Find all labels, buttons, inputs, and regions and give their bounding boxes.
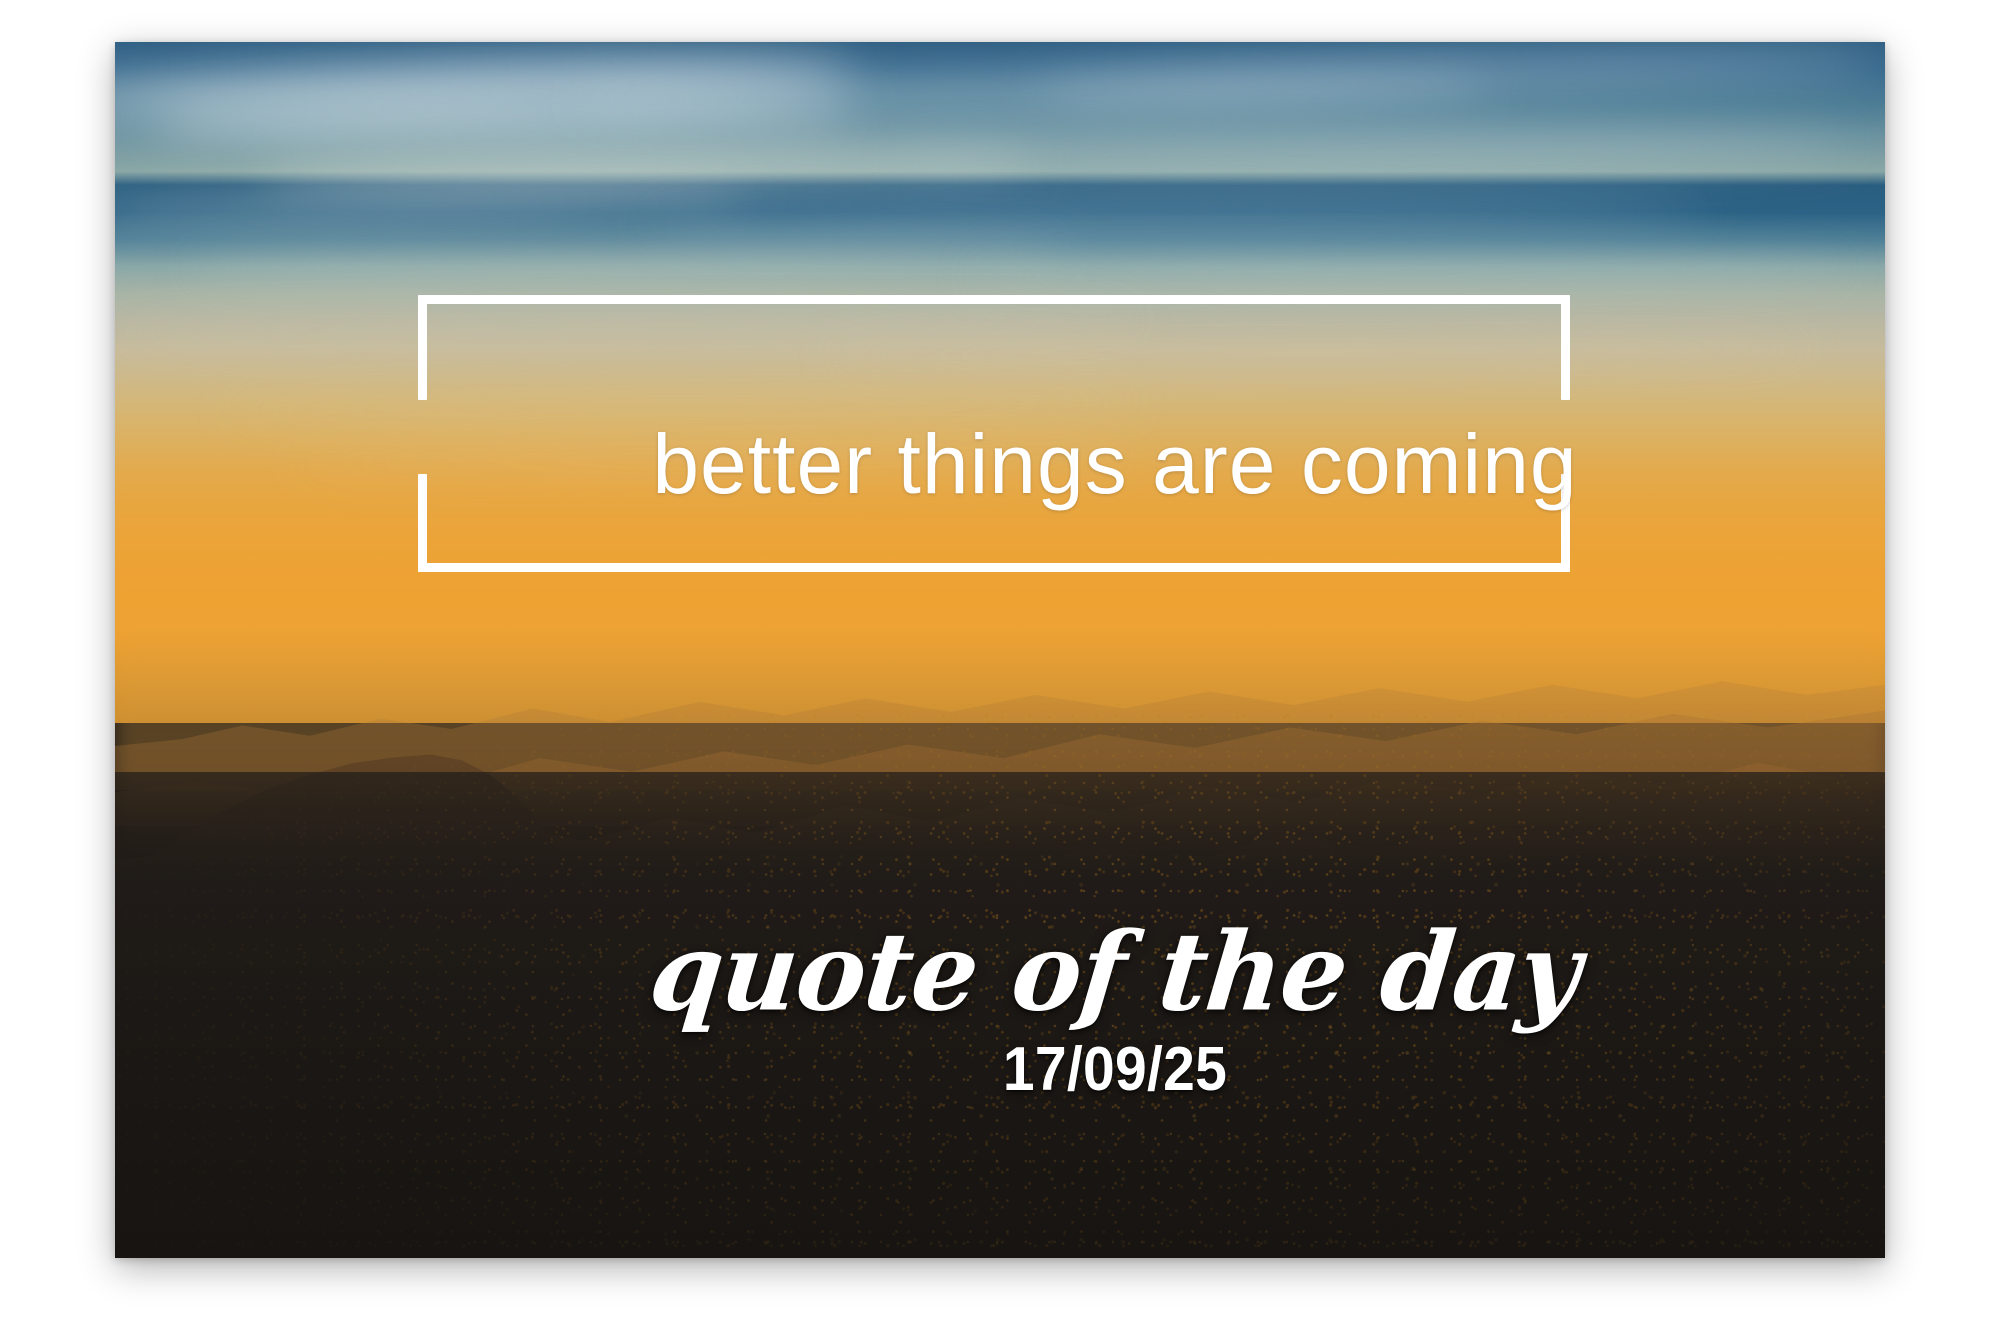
cloud-band-icon	[575, 68, 1496, 118]
cloud-band-icon	[823, 337, 1814, 366]
cloud-band-icon	[115, 47, 859, 126]
cloud-band-icon	[964, 255, 1849, 289]
cloud-band-icon	[115, 308, 1142, 344]
cloud-band-icon	[646, 198, 1708, 240]
cloud-band-icon	[186, 239, 1071, 282]
cloud-band-icon	[256, 143, 1035, 193]
quote-text: better things are coming	[230, 422, 1885, 506]
quote-of-the-day-label: quote of the day	[224, 915, 1885, 1029]
cloud-band-icon	[894, 129, 1850, 176]
signature-block: quote of the day 17/09/25	[230, 917, 1885, 1105]
page-canvas: better things are coming quote of the da…	[0, 0, 2000, 1340]
quote-image-card[interactable]: better things are coming quote of the da…	[115, 42, 1885, 1258]
cloud-band-icon	[150, 88, 859, 146]
cloud-band-icon	[1035, 42, 1885, 111]
cloud-band-icon	[115, 182, 752, 228]
quote-date: 17/09/25	[301, 1034, 1885, 1105]
